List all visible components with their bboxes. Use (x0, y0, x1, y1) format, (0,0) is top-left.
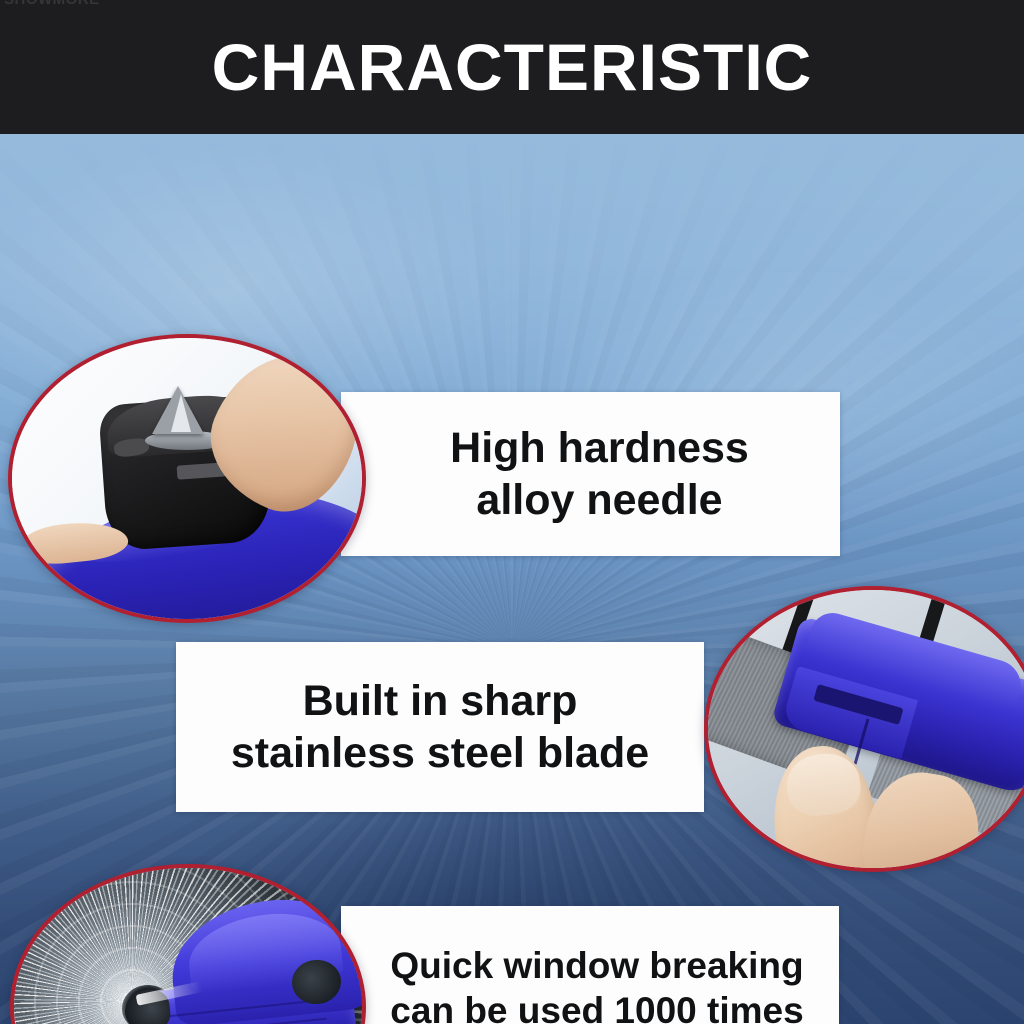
photo-inner-3 (14, 868, 362, 1024)
header-band: SHOWMORE CHARACTERISTIC (0, 0, 1024, 134)
brand-watermark: SHOWMORE (4, 0, 100, 8)
feature-callout-1: High hardness alloy needle (341, 392, 840, 556)
page-title: CHARACTERISTIC (0, 28, 1024, 106)
alloy-needle-highlight (171, 394, 191, 432)
feature-callout-1-text: High hardness alloy needle (432, 422, 749, 527)
feature-callout-2: Built in sharp stainless steel blade (176, 642, 704, 812)
seatbelt-cutter-blade-photo (704, 586, 1024, 872)
photo-inner-1 (12, 338, 362, 619)
feature-callout-3-text: Quick window breaking can be used 1000 t… (376, 943, 803, 1024)
feature-callout-2-text: Built in sharp stainless steel blade (231, 675, 649, 780)
product-infographic: SHOWMORE CHARACTERISTIC (0, 0, 1024, 1024)
shattered-glass-photo (10, 864, 366, 1024)
photo-inner-2 (708, 590, 1024, 868)
feature-stage: High hardness alloy needle (0, 134, 1024, 1024)
feature-callout-3: Quick window breaking can be used 1000 t… (341, 906, 839, 1024)
hammer-head-alloy-needle-photo (8, 334, 366, 623)
